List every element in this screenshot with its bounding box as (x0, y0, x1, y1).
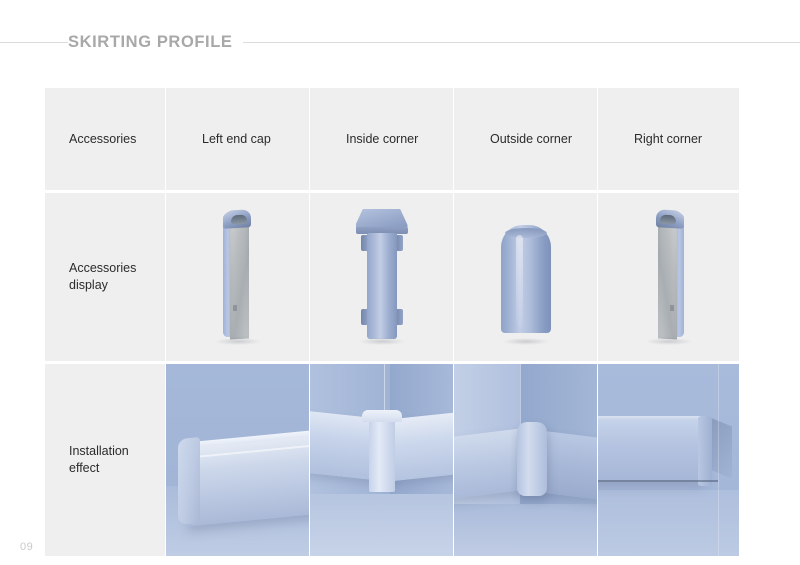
skirting-accessories-table: Accessories Left end cap Inside corner O… (45, 88, 735, 550)
right-corner-install (598, 364, 739, 556)
installed-inside-corner-top (362, 410, 402, 422)
cap-notch (670, 305, 674, 311)
floor-surface (310, 494, 453, 556)
installed-outside-corner (517, 422, 547, 496)
table-header-accessories: Accessories (45, 88, 165, 190)
install-cell-inside-corner (310, 364, 453, 556)
cap-top-hollow (660, 215, 676, 225)
outside-corner-highlight (516, 235, 523, 327)
accessory-cell-right-corner (598, 193, 739, 361)
left-end-cap-render (166, 193, 309, 361)
outside-corner-rim (505, 228, 547, 238)
wall-panel-seam (718, 364, 719, 556)
accessory-cell-inside-corner (310, 193, 453, 361)
inside-corner-body (367, 233, 397, 339)
cap-top-hollow (231, 215, 247, 225)
right-corner-render (598, 193, 739, 361)
page-title: SKIRTING PROFILE (68, 31, 243, 53)
installed-left-end-cap (178, 437, 200, 525)
inside-corner-render (310, 193, 453, 361)
product-shadow (215, 338, 261, 345)
accessory-cell-outside-corner (454, 193, 597, 361)
page-number: 09 (20, 541, 33, 553)
row-label-line-2: effect (69, 460, 129, 477)
install-cell-outside-corner (454, 364, 597, 556)
install-cell-right-corner (598, 364, 739, 556)
installed-right-corner-cap (698, 416, 712, 486)
row-label-line-2: display (69, 277, 136, 294)
left-end-cap-profile-icon (221, 213, 255, 339)
inside-corner-profile-icon (352, 209, 412, 341)
table-row-label-installation-effect: Installation effect (45, 364, 165, 556)
table-header-left-end-cap: Left end cap (166, 88, 309, 190)
right-corner-profile-icon (652, 213, 686, 339)
product-shadow (503, 338, 549, 345)
skirting-board (598, 420, 704, 482)
outside-corner-render (454, 193, 597, 361)
product-shadow (646, 338, 692, 345)
cap-front-face (230, 216, 249, 339)
outside-corner-profile-icon (501, 225, 551, 333)
product-shadow (359, 338, 405, 345)
outside-corner-install (454, 364, 597, 556)
cap-front-face (658, 216, 677, 339)
page-header: SKIRTING PROFILE (0, 0, 800, 72)
skirting-baseline (598, 480, 718, 482)
left-end-cap-install (166, 364, 309, 556)
install-cell-left-end-cap (166, 364, 309, 556)
table-header-outside-corner: Outside corner (454, 88, 597, 190)
table-row-label-accessories-display: Accessories display (45, 193, 165, 361)
cap-notch (233, 305, 237, 311)
row-label-line-1: Installation (69, 443, 129, 460)
skirting-board-left (454, 428, 524, 500)
skirting-board (188, 436, 309, 527)
table-header-right-corner: Right corner (598, 88, 739, 190)
table-header-inside-corner: Inside corner (310, 88, 453, 190)
row-label-line-1: Accessories (69, 260, 136, 277)
floor-surface (454, 504, 597, 556)
accessory-cell-left-end-cap (166, 193, 309, 361)
inside-corner-install (310, 364, 453, 556)
installed-inside-corner (369, 414, 395, 492)
cap-cast-shadow (710, 418, 732, 479)
skirting-board-right (384, 412, 453, 482)
wall-corner-seam (520, 364, 521, 430)
